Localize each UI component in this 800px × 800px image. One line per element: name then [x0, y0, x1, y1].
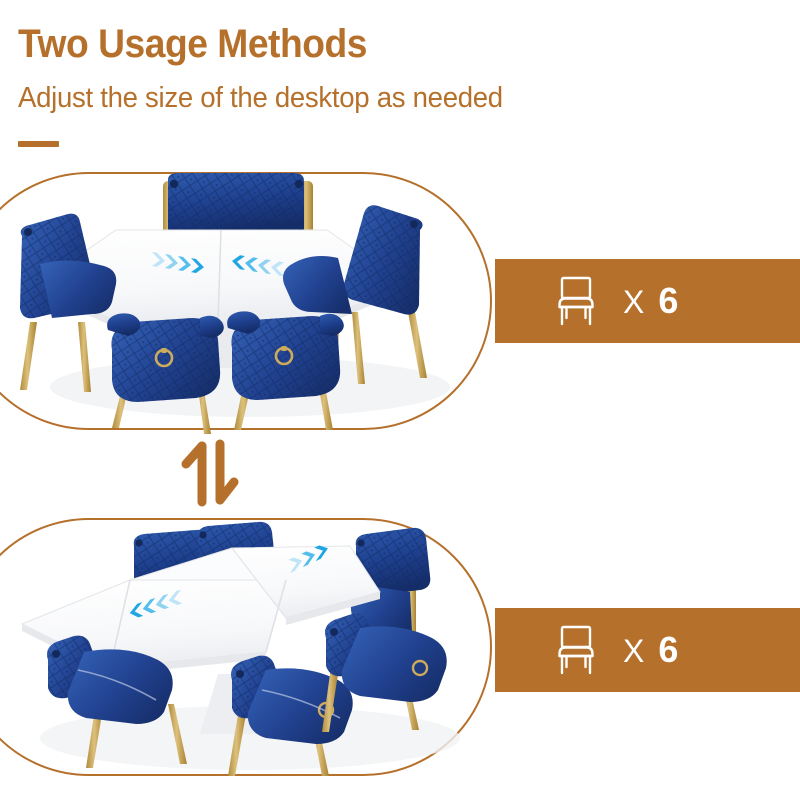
panel-compact: X 6 — [0, 172, 800, 434]
header: Two Usage Methods Adjust the size of the… — [0, 0, 800, 165]
chair-quantity: X 6 — [623, 629, 680, 671]
infographic-page: Two Usage Methods Adjust the size of the… — [0, 0, 800, 800]
panel-extended: X 6 — [0, 518, 800, 780]
page-title: Two Usage Methods — [18, 22, 367, 67]
accent-bar — [18, 141, 59, 147]
chair-icon — [553, 275, 601, 327]
quantity-value: 6 — [658, 280, 680, 321]
panel-extended-banner: X 6 — [495, 608, 800, 692]
panel-compact-banner: X 6 — [495, 259, 800, 343]
page-subtitle: Adjust the size of the desktop as needed — [18, 82, 503, 115]
panel-extended-scene — [0, 518, 500, 780]
chair-icon — [553, 624, 601, 676]
multiply-symbol: X — [623, 284, 646, 320]
chair-front-left — [107, 313, 224, 434]
up-down-arrow-icon — [178, 438, 240, 508]
quantity-value: 6 — [658, 629, 680, 670]
chair-quantity: X 6 — [623, 280, 680, 322]
multiply-symbol: X — [623, 633, 646, 669]
panel-compact-scene — [0, 172, 500, 434]
